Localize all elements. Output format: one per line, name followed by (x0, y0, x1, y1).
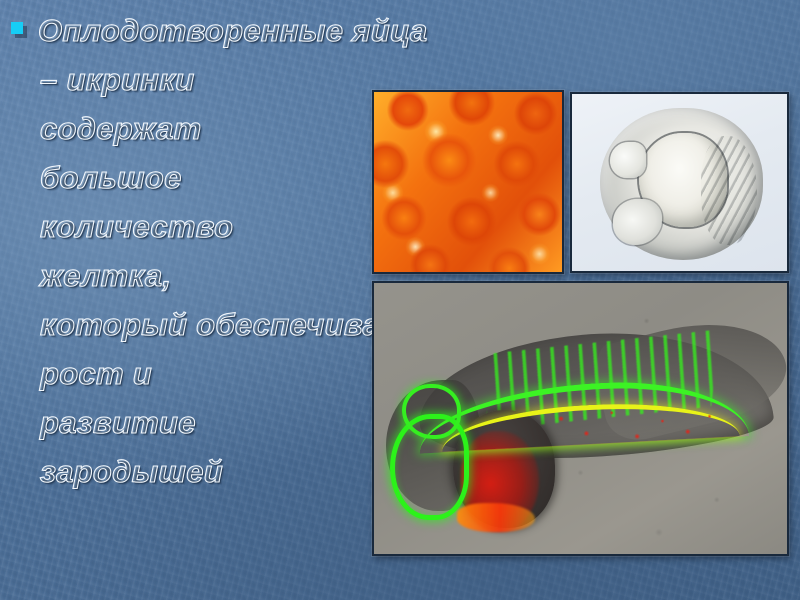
presentation-slide: Оплодотворенные яйца – икринки содержат … (0, 0, 800, 600)
embryo-microscopy-photo (570, 92, 789, 273)
chorion-shape (600, 108, 763, 260)
fluorescent-larva-photo (372, 281, 789, 556)
embryo-somites-shape (701, 136, 757, 246)
larva-red-cell-spots (543, 401, 723, 460)
larva-green-head-vessel-upper (402, 384, 461, 439)
embryo-head-shape (610, 142, 646, 179)
larva-body-group (386, 321, 778, 532)
larva-orange-belly-fluorescence (457, 503, 535, 533)
embryo-tail-shape (613, 199, 662, 245)
text-line: Оплодотворенные яйца (38, 6, 434, 55)
square-bullet-icon (11, 22, 23, 34)
fish-roe-photo (372, 90, 564, 274)
